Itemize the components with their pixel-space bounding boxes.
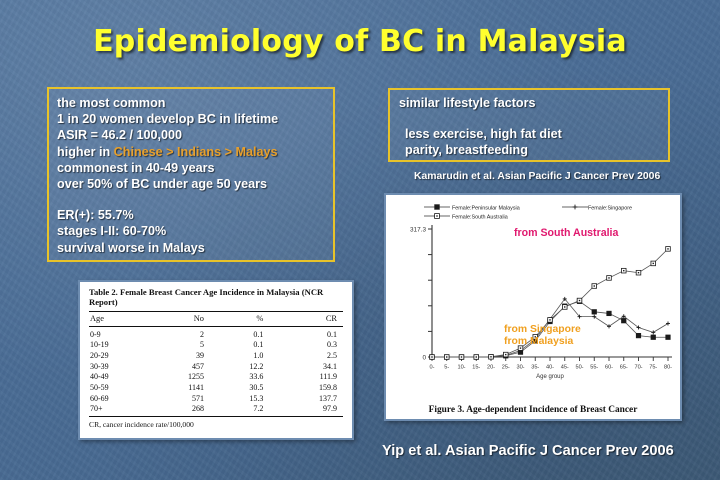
left-line-1: 1 in 20 women develop BC in lifetime [57,111,333,127]
table-row: 40-49125533.6111.9 [89,372,343,383]
svg-text:Female:Singapore: Female:Singapore [588,206,632,212]
table-caption: Table 2. Female Breast Cancer Age Incide… [89,287,343,308]
table-cell: 50-59 [89,382,158,393]
incidence-line-chart: Female:Peninsular MalaysiaFemale:South A… [386,195,680,395]
table-header-row: Age No % CR [89,311,343,326]
table-panel: Table 2. Female Breast Cancer Age Incide… [78,280,354,440]
incidence-table: Age No % CR 0-920.10.110-1950.10.320-293… [89,311,343,416]
table-cell: 571 [158,393,216,404]
svg-text:65-: 65- [620,365,628,371]
svg-text:50-: 50- [575,365,583,371]
left-line-2: ASIR = 46.2 / 100,000 [57,127,333,143]
table-footnote: CR, cancer incidence rate/100,000 [89,416,343,429]
right-line-0: similar lifestyle factors [399,95,668,111]
svg-text:Age group: Age group [536,374,564,380]
table-cell: 39 [158,350,216,361]
table-body: 0-920.10.110-1950.10.320-29391.02.530-39… [89,326,343,416]
figure-caption: Figure 3. Age-dependent Incidence of Bre… [386,405,680,415]
table-row: 70+2687.297.9 [89,404,343,416]
annotation-malaysia: from Malaysia [504,336,573,347]
table-cell: 30.5 [216,382,274,393]
svg-text:5-: 5- [444,365,449,371]
table-cell: 268 [158,404,216,416]
svg-text:10-: 10- [457,365,465,371]
svg-text:15-: 15- [472,365,480,371]
left-line-spacer [57,192,333,207]
table-col-pct: % [216,311,274,326]
table-cell: 15.3 [216,393,274,404]
table-cell: 457 [158,361,216,372]
slide-canvas: Epidemiology of BC in Malaysia the most … [0,0,720,480]
svg-text:Female:South Australia: Female:South Australia [452,215,508,221]
annotation-south-australia: from South Australia [514,227,618,239]
svg-text:80-: 80- [664,365,672,371]
left-line-7: ER(+): 55.7% [57,207,333,223]
svg-text:317.3: 317.3 [410,226,426,233]
table-cell: 0.1 [216,326,274,339]
svg-text:60-: 60- [605,365,613,371]
citation-kamarudin: Kamarudin et al. Asian Pacific J Cancer … [414,171,660,182]
right-line-2: less exercise, high fat diet [399,126,668,142]
left-line-8: stages I-II: 60-70% [57,223,333,239]
chart-panel: Female:Peninsular MalaysiaFemale:South A… [384,193,682,421]
table-cell: 0.1 [274,326,343,339]
svg-text:0: 0 [422,354,426,361]
table-cell: 1.0 [216,350,274,361]
table-cell: 2 [158,326,216,339]
svg-text:70-: 70- [634,365,642,371]
table-cell: 0.3 [274,339,343,350]
table-cell: 0.1 [216,339,274,350]
table-row: 10-1950.10.3 [89,339,343,350]
citation-yip: Yip et al. Asian Pacific J Cancer Prev 2… [382,443,674,459]
table-col-age: Age [89,311,158,326]
svg-text:75-: 75- [649,365,657,371]
table-cell: 159.8 [274,382,343,393]
table-cell: 30-39 [89,361,158,372]
ethnicity-highlight: Chinese > Indians > Malays [114,145,278,159]
table-row: 60-6957115.3137.7 [89,393,343,404]
svg-text:55-: 55- [590,365,598,371]
table-cell: 34.1 [274,361,343,372]
table-cell: 70+ [89,404,158,416]
table-cell: 0-9 [89,326,158,339]
svg-text:0-: 0- [430,365,435,371]
table-cell: 5 [158,339,216,350]
right-text-box: similar lifestyle factors less exercise,… [388,88,670,162]
svg-text:45-: 45- [561,365,569,371]
table-cell: 7.2 [216,404,274,416]
table-cell: 10-19 [89,339,158,350]
svg-text:40-: 40- [546,365,554,371]
table-cell: 97.9 [274,404,343,416]
table-cell: 20-29 [89,350,158,361]
table-row: 30-3945712.234.1 [89,361,343,372]
left-line-4: commonest in 40-49 years [57,160,333,176]
left-line-3: higher in Chinese > Indians > Malays [57,144,333,160]
left-line-0: the most common [57,95,333,111]
svg-text:30-: 30- [516,365,524,371]
table-cell: 40-49 [89,372,158,383]
table-cell: 2.5 [274,350,343,361]
table-row: 20-29391.02.5 [89,350,343,361]
table-row: 50-59114130.5159.8 [89,382,343,393]
left-line-3-prefix: higher in [57,145,114,159]
table-col-cr: CR [274,311,343,326]
table-cell: 12.2 [216,361,274,372]
right-line-spacer [399,111,668,126]
svg-text:20-: 20- [487,365,495,371]
chart-inner: Female:Peninsular MalaysiaFemale:South A… [386,195,680,419]
left-line-9: survival worse in Malays [57,240,333,256]
table-row: 0-920.10.1 [89,326,343,339]
svg-text:Female:Peninsular Malaysia: Female:Peninsular Malaysia [452,206,520,212]
table-cell: 60-69 [89,393,158,404]
annotation-singapore: from Singapore [504,324,581,335]
table-cell: 33.6 [216,372,274,383]
left-text-box: the most common 1 in 20 women develop BC… [47,87,335,262]
table-cell: 1255 [158,372,216,383]
svg-text:25-: 25- [502,365,510,371]
table-cell: 111.9 [274,372,343,383]
left-line-5: over 50% of BC under age 50 years [57,176,333,192]
right-line-3: parity, breastfeeding [399,142,668,158]
svg-text:35-: 35- [531,365,539,371]
page-title: Epidemiology of BC in Malaysia [0,24,720,59]
table-cell: 137.7 [274,393,343,404]
table-cell: 1141 [158,382,216,393]
table-col-no: No [158,311,216,326]
